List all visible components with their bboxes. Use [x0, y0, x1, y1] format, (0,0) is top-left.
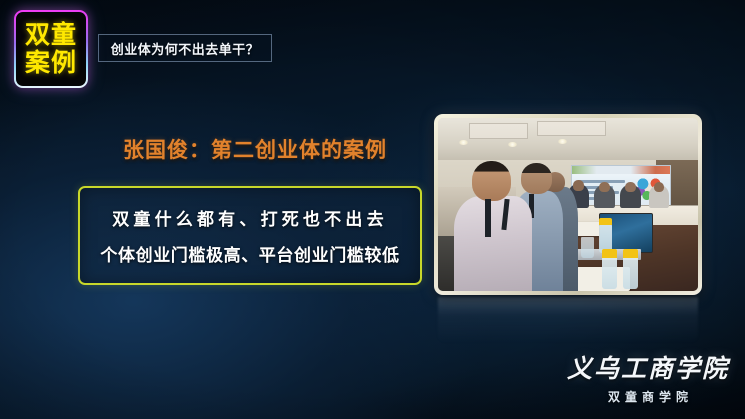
photo-ceiling-panel-2	[537, 121, 607, 135]
photo-seated-head-3	[625, 182, 635, 192]
photo-foreground-person-1-body	[454, 196, 532, 291]
badge-line-2: 案例	[25, 49, 77, 77]
photo-bottle-cap-3	[602, 249, 618, 258]
photo-foreground-person-1-lanyard	[485, 199, 491, 237]
photo-bottle-4	[623, 256, 639, 289]
photo-seated-head-2	[599, 182, 609, 192]
photo-reflection	[438, 297, 698, 343]
photo-seated-head-4	[654, 182, 664, 192]
presentation-slide: 双童 案例 创业体为何不出去单干？ 张国俊：第二创业体的案例 双童什么都有、打死…	[0, 0, 745, 419]
institution-logo-sub: 双童商学院	[567, 388, 729, 405]
quote-box: 双童什么都有、打死也不出去 个体创业门槛极高、平台创业门槛较低	[78, 186, 422, 285]
quote-line-1: 双童什么都有、打死也不出去	[112, 205, 388, 230]
header-question-text: 创业体为何不出去单干？	[111, 39, 260, 58]
quote-line-2: 个体创业门槛极高、平台创业门槛较低	[100, 241, 399, 266]
photo-bottle-cap-2	[599, 218, 612, 225]
photo-foreground-person-2-head	[521, 163, 552, 194]
photo-bottle-3	[602, 256, 618, 289]
photo-frame	[434, 114, 702, 295]
case-badge: 双童 案例	[14, 10, 88, 88]
photo-banner-header-strip	[572, 166, 671, 174]
page-title: 张国俊：第二创业体的案例	[100, 134, 410, 164]
institution-logo-main: 义乌工商学院	[567, 349, 729, 385]
photo-seated-head-1	[573, 180, 583, 190]
meeting-photo	[434, 114, 702, 295]
institution-logo: 义乌工商学院 双童商学院	[567, 349, 729, 405]
photo-foreground-person-1-head	[472, 161, 511, 201]
photo-image	[438, 118, 698, 291]
photo-water-glass	[581, 237, 594, 258]
header-question-box: 创业体为何不出去单干？	[98, 34, 272, 62]
badge-line-1: 双童	[25, 21, 77, 49]
photo-lamp-3	[558, 139, 567, 144]
photo-bottle-cap-4	[623, 249, 639, 258]
photo-ceiling-panel-1	[469, 123, 528, 139]
